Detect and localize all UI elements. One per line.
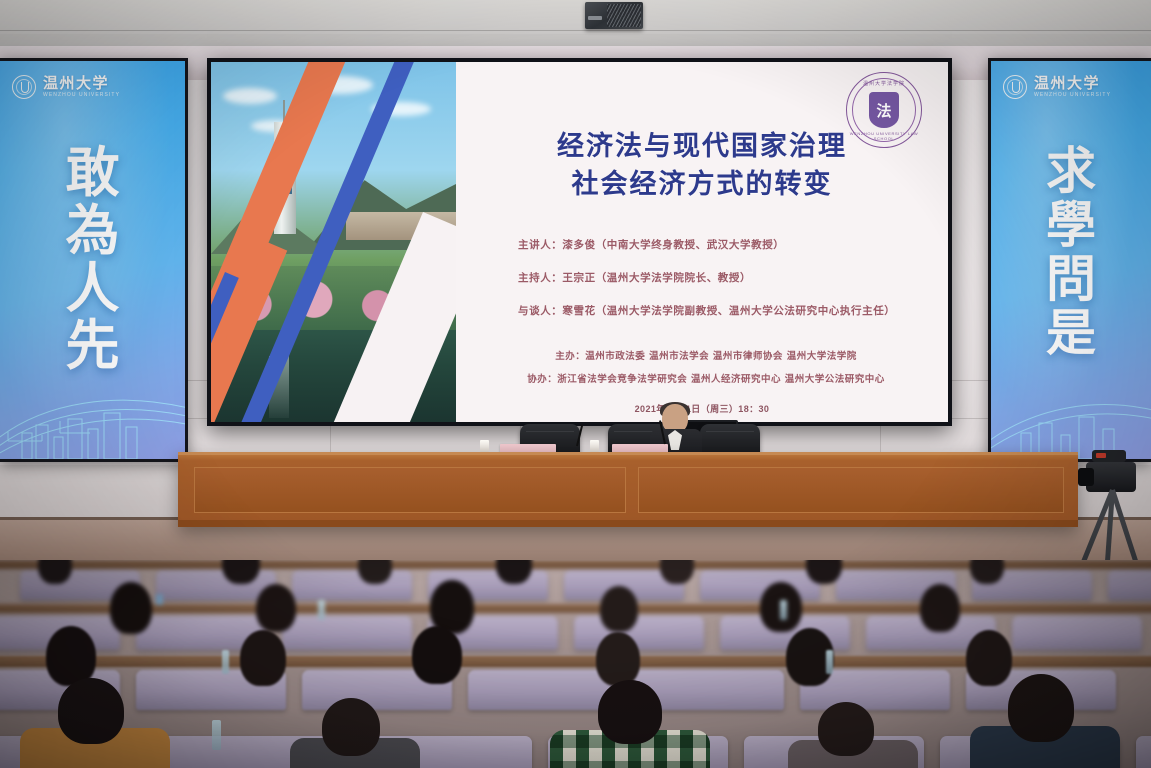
university-name-en: WENZHOU UNIVERSITY	[1034, 93, 1111, 98]
university-name-en: WENZHOU UNIVERSITY	[43, 93, 120, 98]
role-speaker: 主讲人：漆多俊（中南大学终身教授、武汉大学教授）	[518, 238, 918, 254]
camera-record-led-icon	[1096, 453, 1106, 458]
slide-title-line1: 经济法与现代国家治理	[456, 128, 948, 166]
audience-member	[58, 678, 124, 744]
role-discussant: 与谈人：寒雪花（温州大学法学院副教授、温州大学公法研究中心执行主任）	[518, 304, 918, 320]
left-banner-motto: 敢 為 人 先	[0, 147, 185, 372]
slide-title-line2: 社会经济方式的转变	[456, 166, 948, 204]
motto-char: 求	[1046, 147, 1096, 195]
slide-dateline: 2021年4月21日（周三）18：30	[456, 402, 948, 415]
university-name-cn: 温州大学	[1034, 76, 1111, 91]
right-led-banner: 温州大学 WENZHOU UNIVERSITY 求 學 問 是	[988, 58, 1151, 462]
audience-member	[598, 680, 662, 744]
motto-char: 敢	[66, 147, 120, 199]
motto-char: 人	[66, 263, 120, 315]
skyline-graphic	[0, 367, 185, 459]
main-led-screen: 温州大学法学院 法 WENZHOU UNIVERSITY LAW SCHOOL …	[207, 58, 952, 426]
wenzhou-university-logo-right: 温州大学 WENZHOU UNIVERSITY	[1003, 75, 1111, 99]
motto-char: 問	[1046, 255, 1096, 303]
lecture-hall-photo: 温州大学 WENZHOU UNIVERSITY 敢 為 人 先	[0, 0, 1151, 768]
audience-member	[322, 698, 380, 756]
audience-member	[818, 702, 874, 756]
skyline-graphic	[991, 367, 1151, 459]
slide-title: 经济法与现代国家治理 社会经济方式的转变	[456, 128, 948, 205]
left-led-banner: 温州大学 WENZHOU UNIVERSITY 敢 為 人 先	[0, 58, 188, 462]
seal-cn-text: 温州大学法学院	[847, 80, 921, 87]
university-emblem-icon	[12, 75, 36, 99]
motto-char: 是	[1046, 309, 1096, 357]
water-cup	[590, 440, 599, 452]
slide-organizers: 主办：温州市政法委 温州市法学会 温州市律师协会 温州大学法学院 协办：浙江省法…	[486, 348, 926, 394]
audience-member	[1008, 674, 1074, 742]
seal-glyph: 法	[869, 92, 899, 128]
motto-char: 學	[1046, 201, 1096, 249]
university-name-cn: 温州大学	[43, 76, 120, 91]
organizer-co: 协办：浙江省法学会竞争法学研究会 温州人经济研究中心 温州大学公法研究中心	[486, 371, 926, 385]
wenzhou-university-logo-left: 温州大学 WENZHOU UNIVERSITY	[12, 75, 120, 99]
motto-char: 先	[66, 320, 120, 372]
audience-area	[0, 560, 1151, 768]
motto-char: 為	[66, 205, 120, 257]
ceiling	[0, 0, 1151, 46]
university-emblem-icon	[1003, 75, 1027, 99]
water-cup	[480, 440, 489, 452]
ceiling-projector-icon	[585, 2, 643, 29]
camera-lens-icon	[1078, 468, 1094, 486]
role-host: 主持人：王宗正（温州大学法学院院长、教授）	[518, 271, 918, 287]
organizer-main: 主办：温州市政法委 温州市法学会 温州市律师协会 温州大学法学院	[486, 348, 926, 362]
podium-table	[178, 452, 1078, 527]
campus-photo	[211, 62, 456, 422]
slide-roles: 主讲人：漆多俊（中南大学终身教授、武汉大学教授） 主持人：王宗正（温州大学法学院…	[518, 238, 918, 336]
right-banner-motto: 求 學 問 是	[991, 147, 1151, 357]
slide-text-area: 温州大学法学院 法 WENZHOU UNIVERSITY LAW SCHOOL …	[456, 62, 948, 422]
presentation-slide: 温州大学法学院 法 WENZHOU UNIVERSITY LAW SCHOOL …	[211, 62, 948, 422]
